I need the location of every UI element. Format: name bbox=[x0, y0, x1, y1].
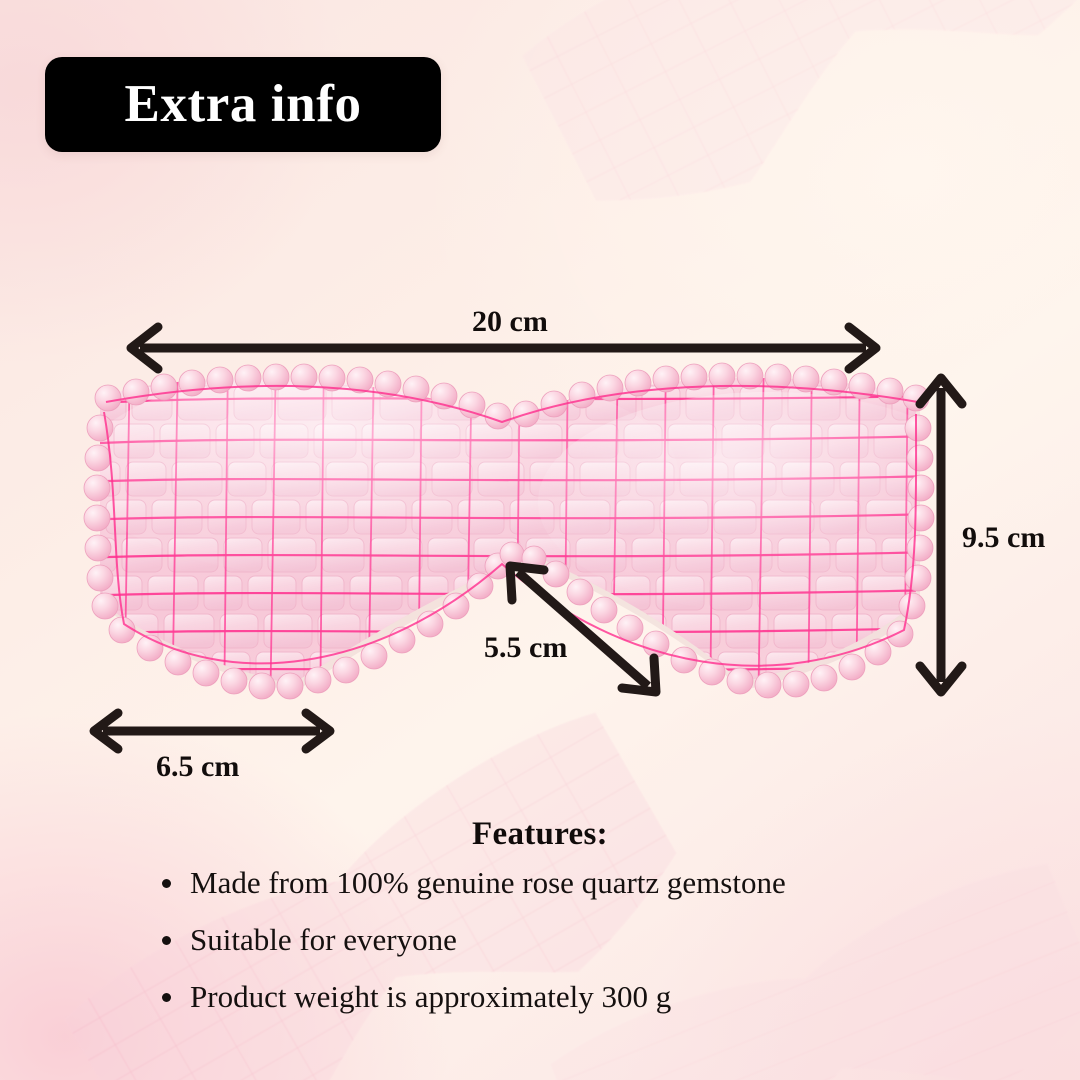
feature-item: Made from 100% genuine rose quartz gemst… bbox=[158, 867, 1080, 898]
dimension-label-height: 9.5 cm bbox=[962, 523, 1045, 553]
features-list: Made from 100% genuine rose quartz gemst… bbox=[0, 867, 1080, 1012]
watermark-product-top-right bbox=[497, 0, 1080, 303]
extra-info-badge: Extra info bbox=[45, 57, 441, 152]
dimension-label-nose: 5.5 cm bbox=[484, 633, 567, 663]
product-image-rose-quartz-eye-mask bbox=[78, 352, 938, 720]
extra-info-badge-label: Extra info bbox=[124, 78, 361, 131]
dimension-label-wing: 6.5 cm bbox=[156, 752, 239, 782]
features-section: Features: Made from 100% genuine rose qu… bbox=[0, 818, 1080, 1038]
feature-item: Suitable for everyone bbox=[158, 924, 1080, 955]
feature-item: Product weight is approximately 300 g bbox=[158, 981, 1080, 1012]
dimension-label-width: 20 cm bbox=[472, 307, 548, 337]
infographic-canvas: Extra info bbox=[0, 0, 1080, 1080]
features-heading: Features: bbox=[0, 818, 1080, 851]
